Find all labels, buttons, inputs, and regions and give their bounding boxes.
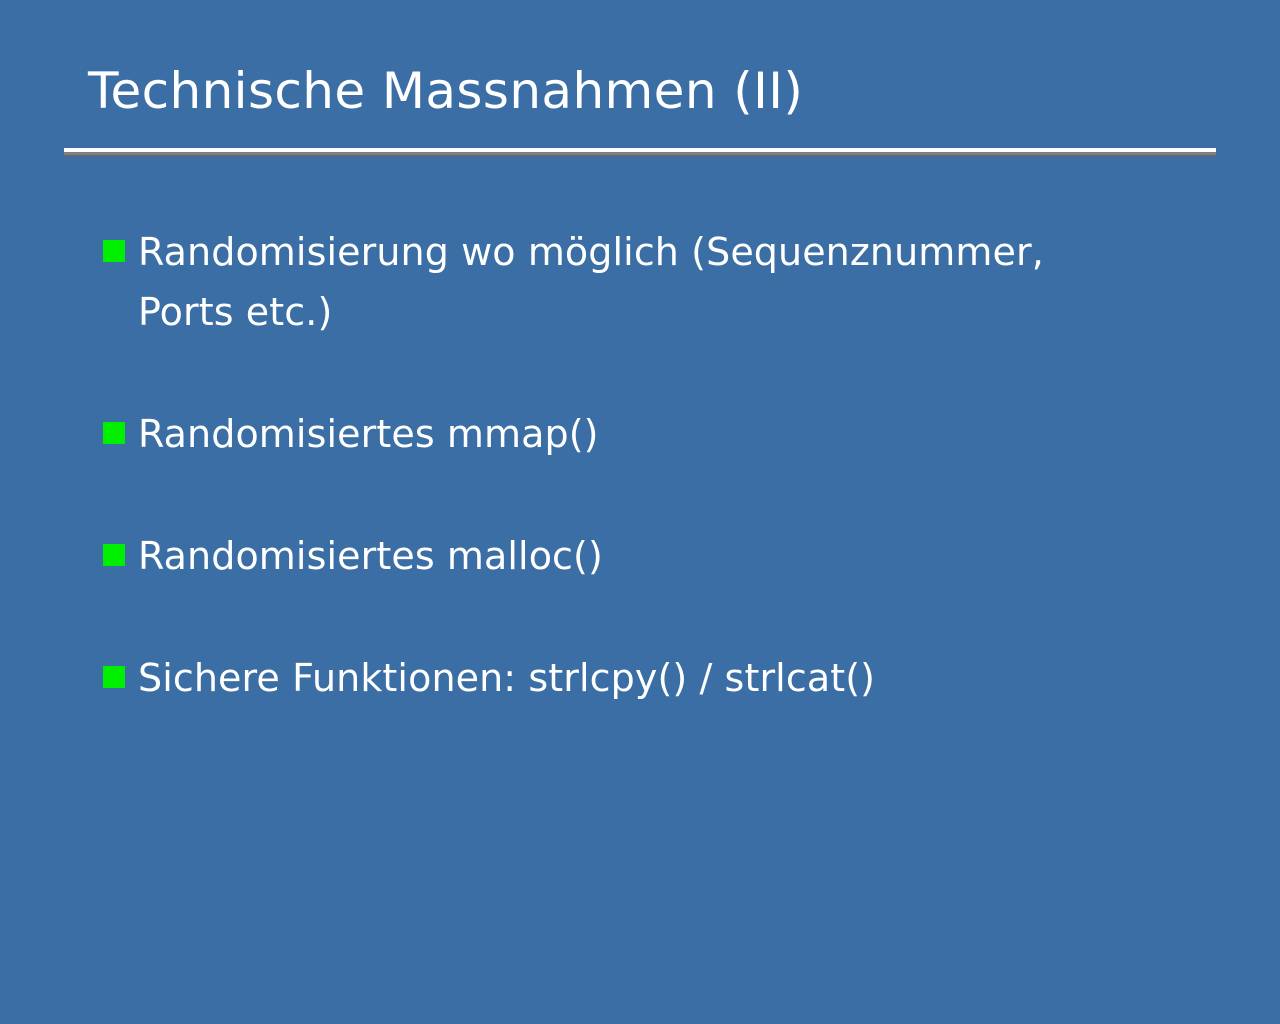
list-item: Sichere Funktionen: strlcpy() / strlcat(… — [103, 648, 1203, 708]
list-item-line-1: Randomisierung wo möglich (Sequenznummer… — [138, 230, 1044, 274]
title-divider — [64, 148, 1216, 157]
slide-body-bullet-list: Randomisierung wo möglich (Sequenznummer… — [103, 222, 1203, 708]
list-item-line-2: Ports etc.) — [138, 282, 1203, 342]
divider-shadow-band — [64, 155, 1216, 157]
list-item-label: Randomisiertes malloc() — [138, 526, 1203, 586]
square-bullet-icon — [103, 544, 125, 566]
list-item: Randomisiertes malloc() — [103, 526, 1203, 586]
presentation-slide: Technische Massnahmen (II) Randomisierun… — [0, 0, 1280, 1024]
square-bullet-icon — [103, 422, 125, 444]
list-item-line-1: Sichere Funktionen: strlcpy() / strlcat(… — [138, 656, 875, 700]
page-title: Technische Massnahmen (II) — [64, 66, 1216, 117]
square-bullet-icon — [103, 240, 125, 262]
list-item-label: Randomisierung wo möglich (Sequenznummer… — [138, 222, 1203, 342]
square-bullet-icon — [103, 666, 125, 688]
list-item-line-1: Randomisiertes malloc() — [138, 534, 603, 578]
list-item: Randomisierung wo möglich (Sequenznummer… — [103, 222, 1203, 342]
list-item-label: Randomisiertes mmap() — [138, 404, 1203, 464]
slide-title-block: Technische Massnahmen (II) — [64, 66, 1216, 117]
list-item-line-1: Randomisiertes mmap() — [138, 412, 599, 456]
list-item-label: Sichere Funktionen: strlcpy() / strlcat(… — [138, 648, 1203, 708]
list-item: Randomisiertes mmap() — [103, 404, 1203, 464]
